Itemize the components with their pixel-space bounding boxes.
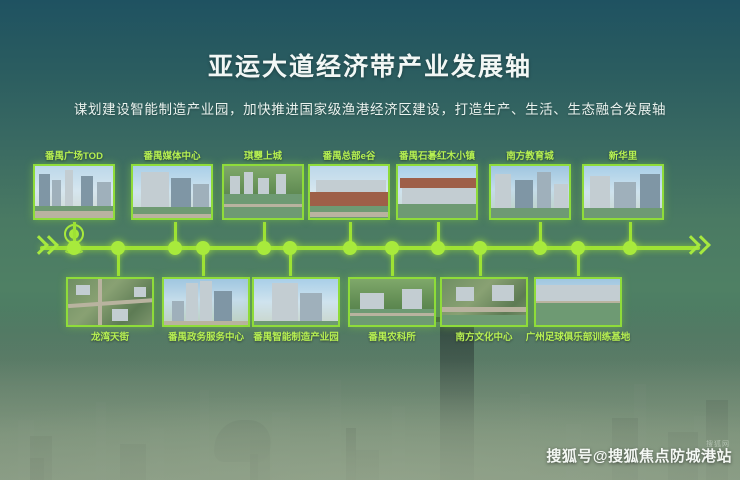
card-thumbnail[interactable] — [396, 164, 478, 220]
double-chevron-right-icon — [682, 233, 712, 261]
list-item[interactable]: 南方文化中心 — [440, 277, 528, 327]
card-thumbnail[interactable] — [534, 277, 622, 327]
card-thumbnail[interactable] — [308, 164, 390, 220]
list-item[interactable]: 番禺媒体中心 — [131, 164, 213, 220]
card-thumbnail[interactable] — [582, 164, 664, 220]
card-thumbnail[interactable] — [131, 164, 213, 220]
list-item[interactable]: 番禺石碁红木小镇 — [396, 164, 478, 220]
list-item[interactable]: 广州足球俱乐部训练基地 — [534, 277, 622, 327]
timeline-axis — [40, 246, 700, 250]
card-thumbnail[interactable] — [348, 277, 436, 327]
page-subtitle: 谋划建设智能制造产业园，加快推进国家级渔港经济区建设，打造生产、生活、生态融合发… — [0, 98, 740, 118]
list-item[interactable]: 新华里 — [582, 164, 664, 220]
watermark: 搜狐号@搜狐焦点防城港站 — [546, 445, 732, 466]
card-thumbnail[interactable] — [162, 277, 250, 327]
list-item[interactable]: 番禺智能制造产业园 — [252, 277, 340, 327]
card-label: 广州足球俱乐部训练基地 — [503, 329, 653, 343]
card-thumbnail[interactable] — [252, 277, 340, 327]
card-thumbnail[interactable] — [222, 164, 304, 220]
list-item[interactable]: 番禺广场TOD — [33, 164, 115, 220]
poster-canvas: 亚运大道经济带产业发展轴 谋划建设智能制造产业园，加快推进国家级渔港经济区建设，… — [0, 0, 740, 480]
list-item[interactable]: 番禺农科所 — [348, 277, 436, 327]
card-thumbnail[interactable] — [489, 164, 571, 220]
page-title: 亚运大道经济带产业发展轴 — [0, 47, 740, 83]
double-chevron-right-icon — [30, 233, 60, 261]
list-item[interactable]: 龙湾天街 — [66, 277, 154, 327]
stadium-silhouette — [213, 420, 273, 462]
landmark-tower-silhouette — [440, 320, 474, 480]
list-item[interactable]: 南方教育城 — [489, 164, 571, 220]
card-thumbnail[interactable] — [66, 277, 154, 327]
list-item[interactable]: 番禺政务服务中心 — [162, 277, 250, 327]
list-item[interactable]: 琪瞾上城 — [222, 164, 304, 220]
card-thumbnail[interactable] — [440, 277, 528, 327]
card-thumbnail[interactable] — [33, 164, 115, 220]
list-item[interactable]: 番禺总部e谷 — [308, 164, 390, 220]
card-label: 新华里 — [548, 148, 698, 162]
